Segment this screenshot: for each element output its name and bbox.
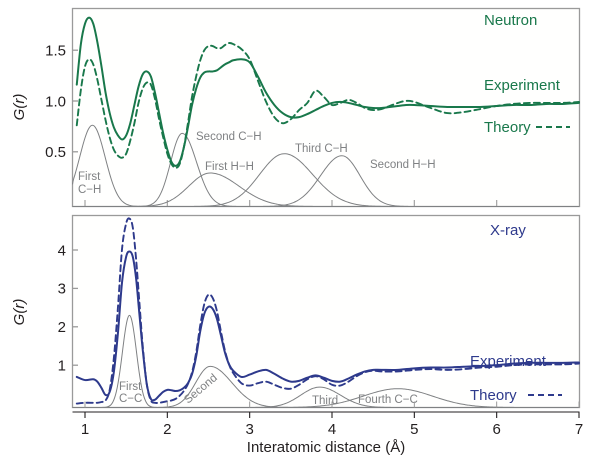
- label-fourth-cc: Fourth C−C: [358, 394, 418, 406]
- xticklabel-5: 5: [410, 421, 418, 438]
- bottom-yticklabel-4: 4: [58, 242, 66, 259]
- xticklabel-1: 1: [81, 421, 89, 438]
- label-first-hh: First H−H: [205, 161, 254, 173]
- label-third-ch: Third C−H: [295, 143, 348, 155]
- svg-text:G(r): G(r): [11, 94, 28, 121]
- label-second-ch: Second C−H: [196, 131, 262, 143]
- xticklabel-6: 6: [492, 421, 500, 438]
- xray-legend-experiment: Experiment: [470, 353, 547, 370]
- bottom-yticklabel-1: 1: [58, 358, 66, 375]
- xticklabel-4: 4: [328, 421, 336, 438]
- x-axis-tick-labels: 1234567: [81, 421, 583, 438]
- top-panel-ylabel: G(r): [11, 94, 28, 121]
- xticklabel-7: 7: [575, 421, 583, 438]
- label-first-cc-line1: First: [119, 381, 142, 393]
- top-yticklabel-1.0: 1.0: [45, 93, 66, 110]
- label-first-ch-line2: C−H: [78, 184, 101, 196]
- svg-text:G(r): G(r): [11, 299, 28, 326]
- xray-legend-theory: Theory: [470, 387, 517, 404]
- top-panel-frame: [73, 9, 580, 207]
- xray-panel-title: X-ray: [490, 222, 526, 239]
- label-third-cc: Third: [312, 395, 338, 407]
- label-second-hh: Second H−H: [370, 159, 436, 171]
- ylabel-top-text: G(r): [11, 94, 28, 121]
- bottom-panel-ylabel: G(r): [11, 299, 28, 326]
- top-yticklabel-0.5: 0.5: [45, 144, 66, 161]
- bottom-panel: 4 3 2 1 G(r) First C−C Second Third Four…: [11, 216, 580, 408]
- label-first-ch-line1: First: [78, 171, 101, 183]
- bottom-yticklabel-2: 2: [58, 319, 66, 336]
- top-yticklabel-1.5: 1.5: [45, 43, 66, 60]
- neutron-legend-theory: Theory: [484, 119, 531, 136]
- neutron-legend-experiment: Experiment: [484, 77, 561, 94]
- xticklabel-2: 2: [163, 421, 171, 438]
- xticklabel-3: 3: [245, 421, 253, 438]
- neutron-panel-title: Neutron: [484, 12, 537, 29]
- top-panel: 1.5 1.0 0.5 G(r) First: [11, 9, 580, 207]
- label-first-cc-line2: C−C: [119, 393, 142, 405]
- bottom-yticklabel-3: 3: [58, 281, 66, 298]
- x-axis-title: Interatomic distance (Å): [247, 439, 405, 456]
- pdf-figure: 1.5 1.0 0.5 G(r) First: [0, 0, 600, 470]
- x-axis: 1234567 Interatomic distance (Å): [73, 402, 584, 457]
- ylabel-bottom-text: G(r): [11, 299, 28, 326]
